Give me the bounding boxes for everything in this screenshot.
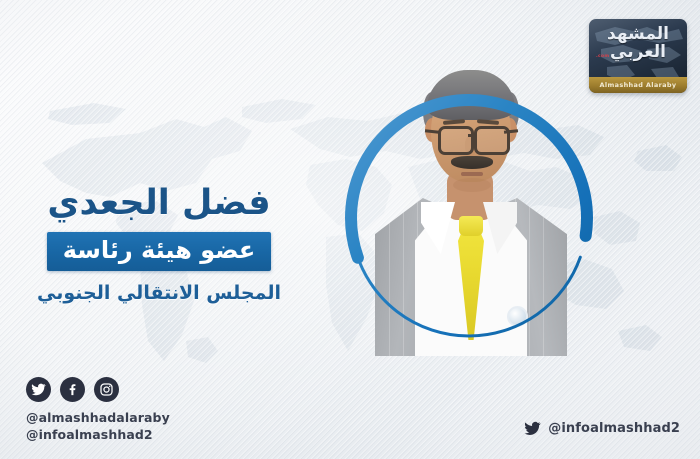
person-title-badge: عضو هيئة رئاسة [47,232,272,271]
social-icon-row [26,377,170,402]
portrait-ring [337,86,601,350]
social-handle-primary: @almashhadalaraby [26,409,170,427]
news-graphic-card: المشهد العربي .com Almashhad Alaraby [0,0,700,459]
headline-block: فضل الجعدي عضو هيئة رئاسة المجلس الانتقا… [0,185,318,304]
facebook-icon[interactable] [60,377,85,402]
logo-dotcom: .com [596,54,609,59]
footer-handle: @infoalmashhad2 [548,420,680,438]
portrait [337,86,601,350]
logo-line-2: العربي [589,44,687,61]
logo-latin-band: Almashhad Alaraby [589,77,687,93]
logo-line-1: المشهد [589,26,687,43]
instagram-icon[interactable] [94,377,119,402]
footer-social: @infoalmashhad2 [524,420,680,438]
channel-logo[interactable]: المشهد العربي .com Almashhad Alaraby [589,19,687,93]
social-block: @almashhadalaraby @infoalmashhad2 [26,377,170,445]
twitter-icon[interactable] [524,420,541,437]
twitter-icon[interactable] [26,377,51,402]
person-name: فضل الجعدي [0,185,318,222]
social-handle-secondary: @infoalmashhad2 [26,426,170,444]
organization-name: المجلس الانتقالي الجنوبي [0,282,318,304]
